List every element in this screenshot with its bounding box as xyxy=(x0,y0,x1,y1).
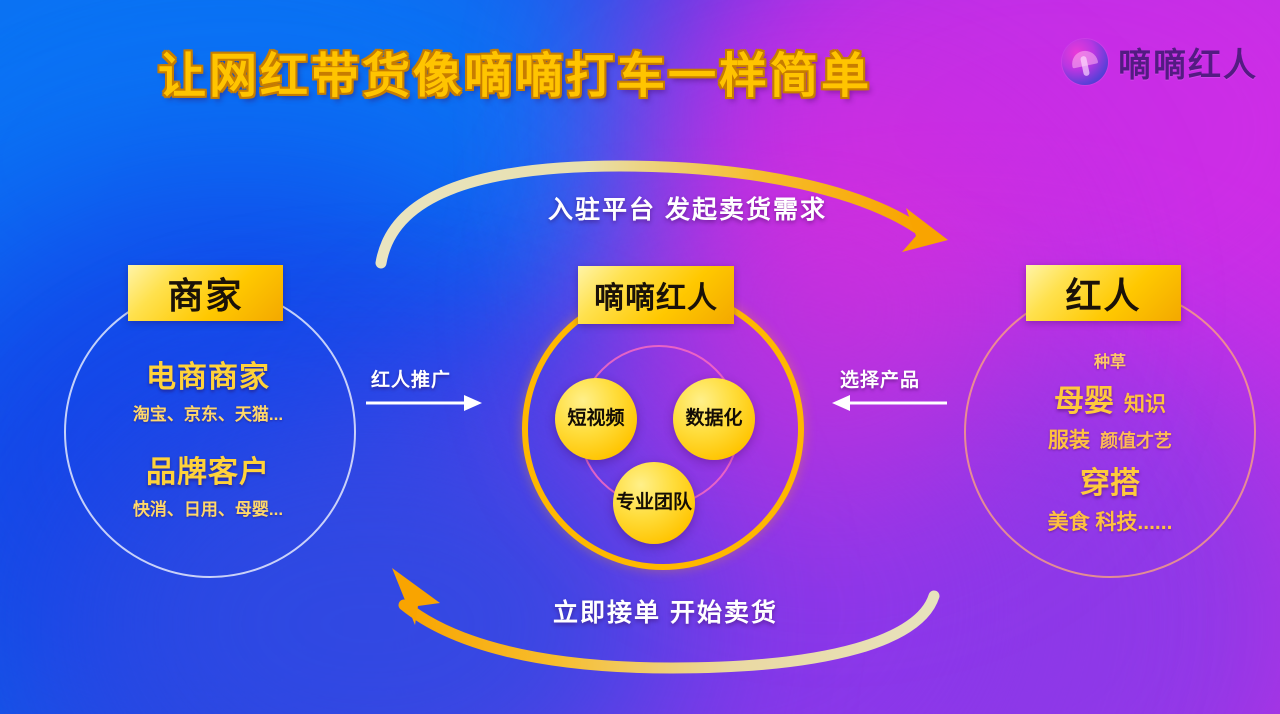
center-node-label[interactable]: 嘀嘀红人 xyxy=(578,266,734,324)
left-group-2-subtitle: 快消、日用、母婴... xyxy=(43,495,373,520)
left-node-label[interactable]: 商家 xyxy=(128,265,283,321)
right-node-content: 种草 母婴 知识 服装 颜值才艺 穿搭 美食 科技...... xyxy=(945,348,1275,536)
right-tag-row-2: 服装 颜值才艺 xyxy=(945,424,1275,454)
arrow-right-promote xyxy=(366,395,482,411)
right-tag-row-4: 美食 科技...... xyxy=(945,506,1275,536)
flow-label-bottom: 立即接单 开始卖货 xyxy=(553,593,778,629)
right-tag-row-3: 穿搭 xyxy=(945,458,1275,502)
flow-label-mid-right: 选择产品 xyxy=(840,365,920,392)
right-tag-zhishi: 知识 xyxy=(1124,388,1166,418)
center-bubble-pro-team-line2: 团队 xyxy=(654,493,692,513)
left-group-2-title: 品牌客户 xyxy=(43,447,373,491)
right-tag-row-1: 母婴 知识 xyxy=(945,376,1275,420)
arrow-left-select xyxy=(832,395,947,411)
right-tag-muying: 母婴 xyxy=(1054,376,1114,420)
flow-label-mid-left: 红人推广 xyxy=(371,365,451,392)
right-tag-meishi-keji: 美食 科技...... xyxy=(1048,506,1173,536)
center-bubble-pro-team-line1: 专业 xyxy=(616,493,654,513)
left-group-1-subtitle: 淘宝、京东、天猫... xyxy=(43,400,373,425)
right-tag-chuanda: 穿搭 xyxy=(1080,458,1140,502)
left-node-content: 电商商家 淘宝、京东、天猫... 品牌客户 快消、日用、母婴... xyxy=(43,352,373,520)
center-bubble-pro-team[interactable]: 专业 团队 xyxy=(613,462,695,544)
right-tag-yanzhicaiyi: 颜值才艺 xyxy=(1100,427,1172,453)
right-tag-fuzhuang: 服装 xyxy=(1048,424,1090,454)
center-bubble-short-video[interactable]: 短视频 xyxy=(555,378,637,460)
right-node-label[interactable]: 红人 xyxy=(1026,265,1181,321)
center-bubble-data[interactable]: 数据化 xyxy=(673,378,755,460)
flow-label-top: 入驻平台 发起卖货需求 xyxy=(548,190,827,226)
spacer xyxy=(43,425,373,447)
infographic-canvas: 让网红带货像嘀嘀打车一样简单 嘀嘀红人 xyxy=(0,0,1280,714)
right-tag-zhongcao: 种草 xyxy=(945,348,1275,372)
left-group-1-title: 电商商家 xyxy=(43,352,373,396)
